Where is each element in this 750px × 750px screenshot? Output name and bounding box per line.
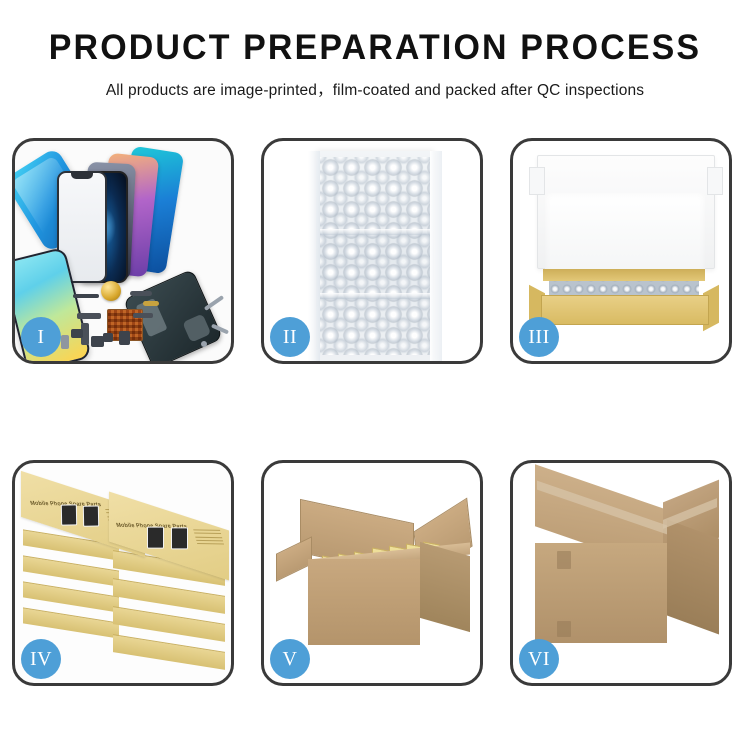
flex-cable-icon-3 [77, 313, 101, 319]
step-number-badge-2: II [270, 317, 310, 357]
carton-tab-upper [557, 551, 571, 569]
mailer-inner-wall-icon [543, 269, 705, 281]
page-title: PRODUCT PREPARATION PROCESS [11, 30, 739, 67]
sealed-carton-side-panel [667, 520, 719, 635]
screw-icon [201, 341, 207, 347]
box-side-r4 [113, 634, 225, 670]
bubble-wrap-icon [316, 151, 434, 361]
step-panel-1: I [12, 138, 234, 364]
mailer-lid-tab-left [529, 167, 545, 195]
box-screen-art-front-2 [171, 527, 188, 549]
mailer-lid-tab-right [707, 167, 723, 195]
flex-cable-icon-1 [130, 291, 152, 296]
earpiece-mesh-icon [73, 294, 99, 298]
battery-part-icon [119, 331, 130, 345]
step-panel-6: VI [510, 460, 732, 686]
step-panel-5: V [261, 460, 483, 686]
camera-module-icon [91, 336, 104, 347]
box-screen-art-front-1 [147, 527, 164, 549]
step-number-badge-3: III [519, 317, 559, 357]
bubble-pattern-secondary [320, 157, 430, 355]
sealed-carton-front-panel [535, 543, 667, 643]
box-screen-art-rear-2 [83, 505, 99, 526]
step-panel-3: III [510, 138, 732, 364]
box-spec-lines-front [193, 529, 225, 547]
step-number-badge-4: IV [21, 639, 61, 679]
step-number-badge-1: I [21, 317, 61, 357]
connector-icon-2 [103, 333, 113, 342]
flex-cable-icon-2 [143, 301, 159, 306]
box-side-l4 [23, 607, 119, 638]
bubble-wrap-edge-right [430, 151, 442, 361]
mailer-front-panel-icon [541, 295, 709, 325]
step-panel-4: Mobile Phone Spare Parts Mobile Phone Sp… [12, 460, 234, 686]
step-number-badge-5: V [270, 639, 310, 679]
step-number-badge-6: VI [519, 639, 559, 679]
bubble-wrap-edge-left [308, 151, 320, 361]
box-screen-art-rear-1 [61, 504, 77, 525]
header: PRODUCT PREPARATION PROCESS All products… [0, 0, 750, 100]
box-side-l2 [23, 555, 119, 586]
process-steps-grid: I II III [12, 138, 738, 686]
carton-flap-left [276, 536, 312, 582]
connector-icon-1 [71, 329, 83, 338]
bubble-wrap-seam-top [320, 229, 430, 235]
speaker-part-icon [101, 281, 121, 301]
bubble-wrap-seam-bottom [320, 293, 430, 299]
box-side-l3 [23, 581, 119, 612]
carton-tab-lower [557, 621, 571, 637]
carton-front-panel-icon [308, 559, 420, 645]
step-panel-2: II [261, 138, 483, 364]
foam-insert-icon [545, 193, 705, 275]
sim-tray-icon [61, 335, 69, 349]
flex-cable-icon-5 [133, 313, 153, 318]
carton-side-panel-icon [420, 542, 470, 632]
page-subtitle: All products are image-printed，film-coat… [0, 78, 750, 100]
